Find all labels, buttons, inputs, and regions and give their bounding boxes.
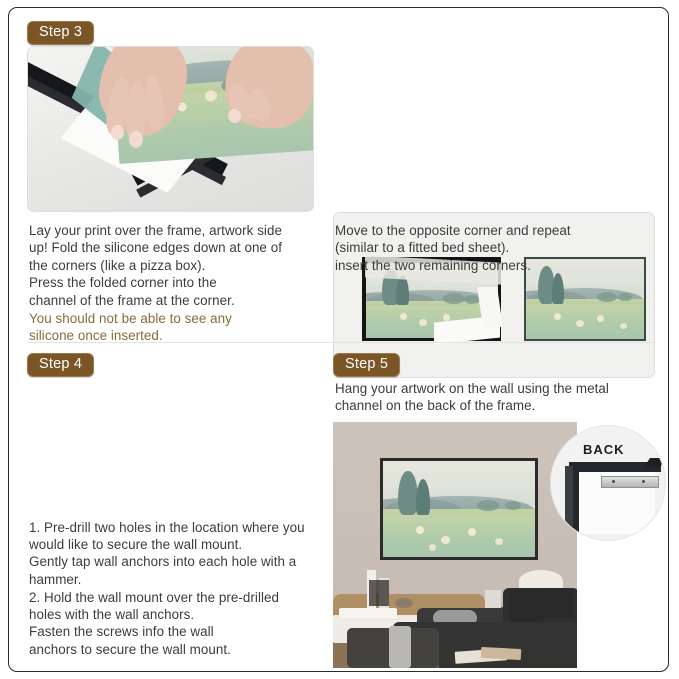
section-divider [27, 342, 653, 343]
step-4-caption-1: 1. Pre-drill two holes in the location w… [29, 519, 321, 588]
instruction-sheet: Step 3 [8, 7, 669, 672]
step-4-badge: Step 4 [27, 353, 94, 377]
step-5-badge: Step 5 [333, 353, 400, 377]
step-5-caption: Hang your artwork on the wall using the … [335, 380, 645, 415]
step-3b-caption: Move to the opposite corner and repeat (… [335, 222, 635, 274]
step-3-badge-wrap: Step 3 [27, 21, 94, 45]
step-3-image [27, 46, 314, 212]
step-3-caption-warning: You should not be able to see any silico… [29, 310, 319, 345]
step-4-caption-2: 2. Hold the wall mount over the pre-dril… [29, 589, 321, 658]
step-5-back-callout: BACK [550, 425, 666, 541]
step-5-room-photo [333, 422, 577, 668]
step-5-badge-wrap: Step 5 [333, 353, 400, 377]
back-label: BACK [583, 442, 625, 457]
step-3-caption: Lay your print over the frame, artwork s… [29, 222, 319, 309]
step-3-badge: Step 3 [27, 21, 94, 45]
step-4-badge-wrap: Step 4 [27, 353, 94, 377]
